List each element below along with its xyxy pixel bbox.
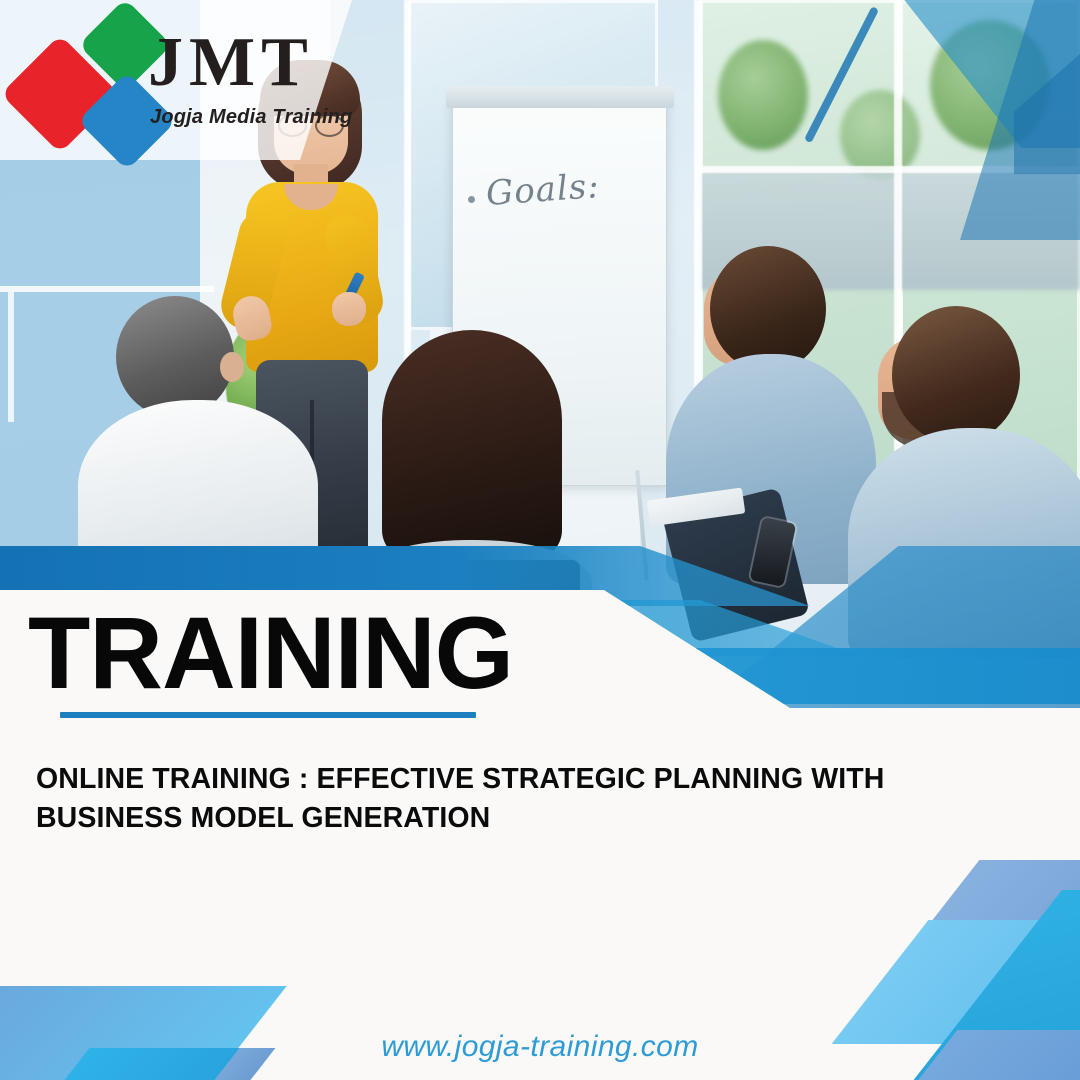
logo-tagline: Jogja Media Training: [150, 106, 353, 129]
audience-ear: [220, 352, 244, 382]
website-url[interactable]: www.jogja-training.com: [0, 1030, 1080, 1064]
presenter-hand-right: [332, 292, 366, 326]
flipchart-bullet: [468, 196, 475, 203]
tree-foliage: [718, 40, 808, 150]
railing-post: [8, 292, 14, 422]
audience-head: [892, 306, 1020, 444]
audience-head: [382, 330, 562, 560]
logo-wordmark: JMT: [148, 28, 314, 98]
subtitle-text: ONLINE TRAINING : EFFECTIVE STRATEGIC PL…: [36, 760, 1022, 839]
audience-member-left: [78, 296, 318, 576]
railing: [0, 286, 214, 292]
title-underline: [60, 712, 476, 718]
flipchart-clip: [446, 86, 674, 108]
page-title: TRAINING: [28, 602, 513, 704]
training-poster: Goals:: [0, 0, 1080, 1080]
flipchart-goals-text: Goals:: [485, 166, 601, 214]
